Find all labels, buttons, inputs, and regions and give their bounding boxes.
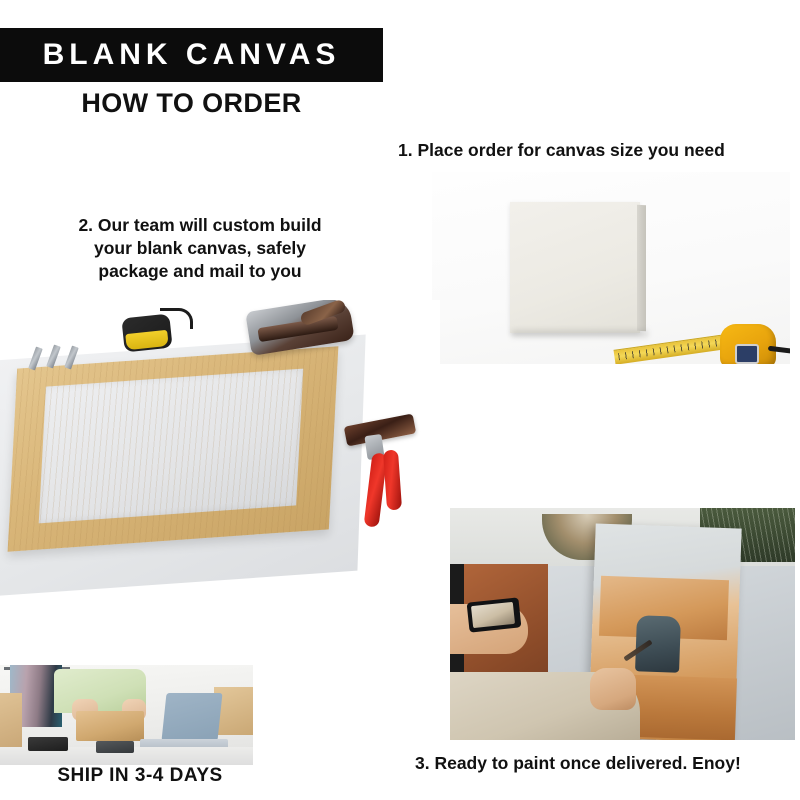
wood-grain-texture	[8, 346, 339, 552]
staple-icon	[28, 346, 42, 370]
staple-icon	[64, 345, 78, 369]
stretcher-frame-photo	[0, 300, 440, 630]
tape-measure-lock	[735, 344, 759, 364]
blank-canvas-face	[510, 202, 640, 333]
brand-title: BLANK CANVAS	[43, 38, 341, 72]
calculator	[28, 737, 68, 751]
blank-canvas-side-edge	[637, 205, 646, 331]
step-2-caption-line-2: your blank canvas, safely	[40, 237, 360, 260]
artist-painting-hand	[590, 668, 636, 710]
shipping-caption: SHIP IN 3-4 DAYS	[30, 765, 250, 787]
shipping-box	[76, 711, 144, 741]
tape-measure-blade-curl	[160, 308, 193, 329]
canvas-pliers-handle	[383, 450, 402, 511]
blank-canvas-photo	[432, 172, 790, 364]
page-subtitle: HOW TO ORDER	[0, 88, 383, 119]
step-1-caption: 1. Place order for canvas size you need	[398, 139, 788, 162]
step-3-caption: 3. Ready to paint once delivered. Enoy!	[415, 752, 795, 775]
laptop-screen	[161, 693, 222, 741]
staple-icon	[46, 344, 60, 368]
step-2-caption: 2. Our team will custom build your blank…	[40, 214, 360, 283]
packing-shipping-photo	[0, 665, 253, 765]
brand-title-bar: BLANK CANVAS	[0, 28, 383, 82]
phone-screen	[471, 602, 515, 628]
canvas-drop-shadow	[512, 330, 648, 337]
step-2-caption-line-1: 2. Our team will custom build	[40, 214, 360, 237]
desk-phone	[96, 741, 134, 753]
artist-painting-photo	[450, 508, 795, 740]
step-2-caption-line-3: package and mail to you	[40, 260, 360, 283]
staples-group	[32, 345, 102, 371]
cardboard-box-stack-left	[0, 693, 22, 749]
